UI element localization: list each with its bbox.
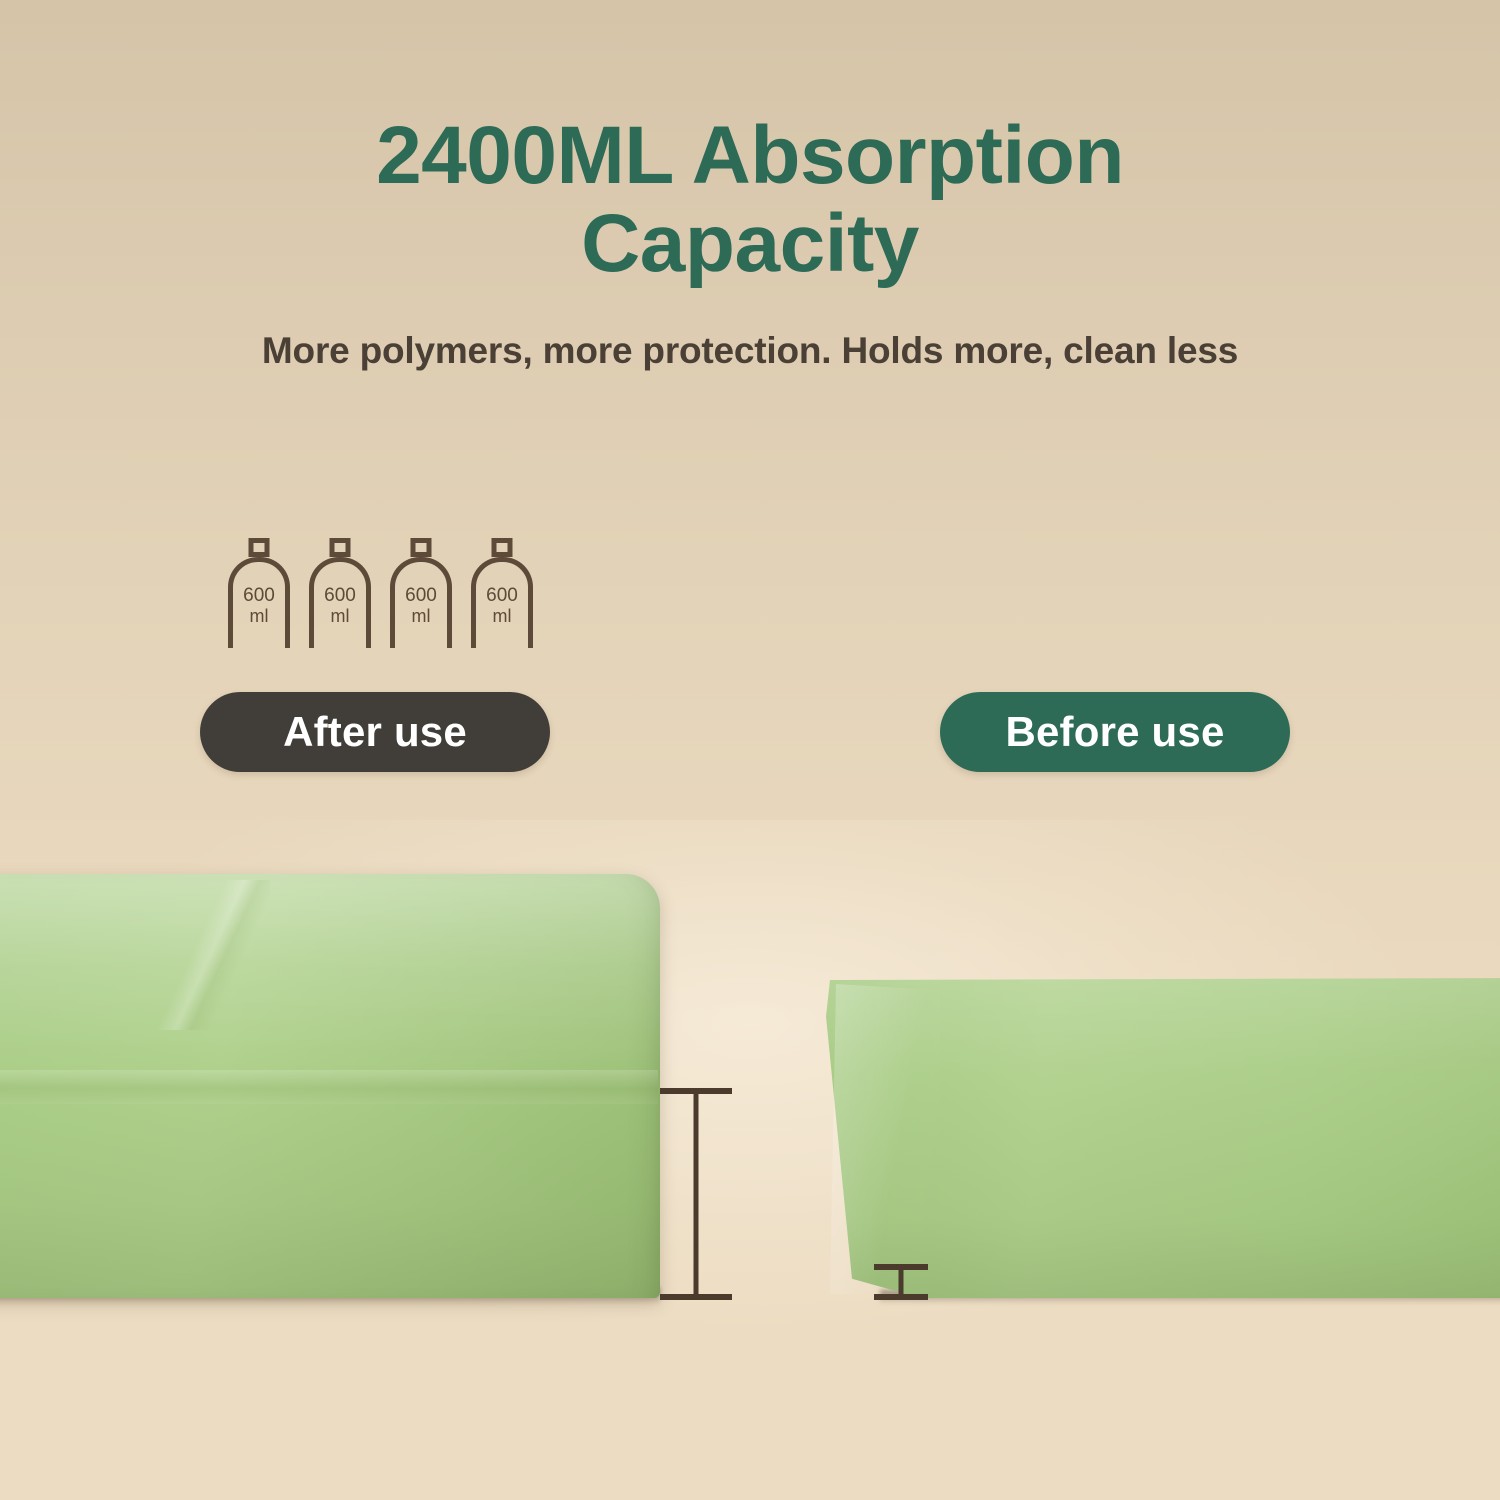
bottle-icon: 600 ml bbox=[471, 538, 533, 648]
bottle-icon: 600 ml bbox=[309, 538, 371, 648]
bottle-icon: 600 ml bbox=[228, 538, 290, 648]
marker-stem bbox=[694, 1088, 699, 1300]
bottle-volume-unit: ml bbox=[390, 606, 452, 626]
bottle-volume-label: 600 ml bbox=[471, 586, 533, 626]
marker-bottom-cap bbox=[874, 1294, 928, 1300]
bottle-icon: 600 ml bbox=[390, 538, 452, 648]
capacity-bottle-row: 600 ml 600 ml 600 ml 600 ml bbox=[228, 538, 533, 648]
headline-line-1: 2400ML Absorption bbox=[376, 110, 1124, 201]
bottle-cap-icon bbox=[249, 538, 270, 557]
page-subtitle: More polymers, more protection. Holds mo… bbox=[0, 330, 1500, 372]
bottle-cap-icon bbox=[330, 538, 351, 557]
product-pad-before-use bbox=[826, 978, 1500, 1298]
headline-line-2: Capacity bbox=[581, 198, 919, 289]
bottle-volume-value: 600 bbox=[243, 585, 275, 606]
bottle-volume-label: 600 ml bbox=[228, 586, 290, 626]
product-feature-image: 2400ML Absorption Capacity More polymers… bbox=[0, 0, 1500, 1500]
bottle-volume-value: 600 bbox=[324, 585, 356, 606]
badge-before-use: Before use bbox=[940, 692, 1290, 772]
product-pad-after-use bbox=[0, 874, 660, 1298]
bottle-volume-label: 600 ml bbox=[390, 586, 452, 626]
bottle-volume-value: 600 bbox=[405, 585, 437, 606]
page-title: 2400ML Absorption Capacity bbox=[0, 112, 1500, 287]
bottle-cap-icon bbox=[411, 538, 432, 557]
bottle-volume-unit: ml bbox=[471, 606, 533, 626]
badge-after-use: After use bbox=[200, 692, 550, 772]
thickness-marker-before bbox=[874, 1264, 928, 1300]
marker-bottom-cap bbox=[660, 1294, 732, 1300]
bottle-volume-unit: ml bbox=[309, 606, 371, 626]
bottle-volume-unit: ml bbox=[228, 606, 290, 626]
bottle-cap-icon bbox=[492, 538, 513, 557]
bottle-volume-label: 600 ml bbox=[309, 586, 371, 626]
bottle-volume-value: 600 bbox=[486, 585, 518, 606]
thickness-marker-after bbox=[660, 1088, 732, 1300]
